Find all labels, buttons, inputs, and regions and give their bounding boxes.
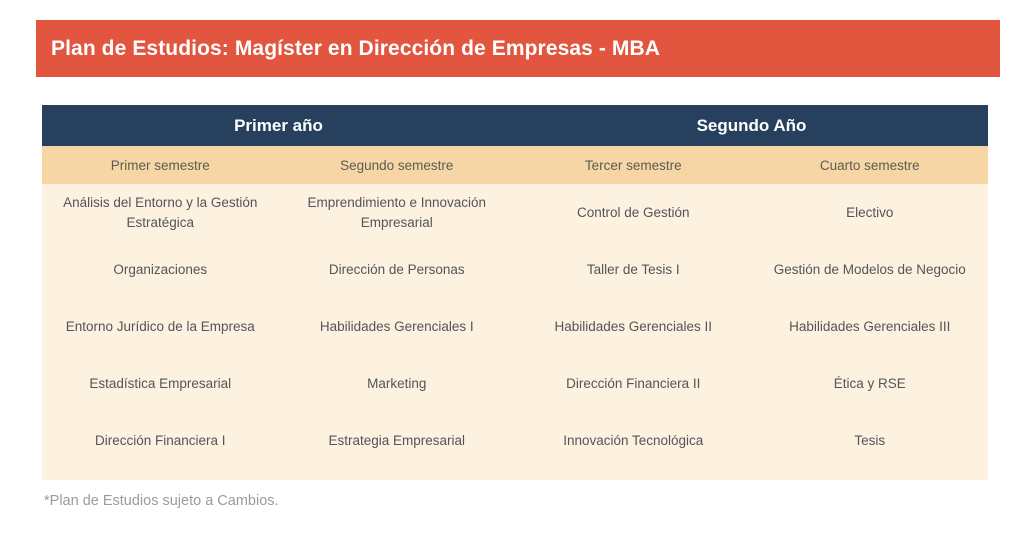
course-cell: Taller de Tesis I: [515, 241, 752, 298]
table-row: Estadística Empresarial Marketing Direcc…: [42, 355, 988, 412]
course-cell: Habilidades Gerenciales I: [279, 298, 516, 355]
curriculum-table: Primer año Segundo Año Primer semestre S…: [42, 105, 988, 480]
semester-header-primer: Primer semestre: [42, 146, 279, 184]
title-banner: Plan de Estudios: Magíster en Dirección …: [36, 20, 1000, 77]
table-row: Organizaciones Dirección de Personas Tal…: [42, 241, 988, 298]
course-cell: Ética y RSE: [752, 355, 989, 412]
table-row: Dirección Financiera I Estrategia Empres…: [42, 412, 988, 469]
course-cell: Entorno Jurídico de la Empresa: [42, 298, 279, 355]
table-row: Análisis del Entorno y la Gestión Estrat…: [42, 184, 988, 241]
course-cell: Tesis: [752, 412, 989, 469]
year-header-row: Primer año Segundo Año: [42, 105, 988, 146]
course-cell: Organizaciones: [42, 241, 279, 298]
course-cell: Marketing: [279, 355, 516, 412]
course-cell: Innovación Tecnológica: [515, 412, 752, 469]
year-header-primer-ano: Primer año: [42, 105, 515, 146]
semester-header-cuarto: Cuarto semestre: [752, 146, 989, 184]
course-cell: Análisis del Entorno y la Gestión Estrat…: [42, 184, 279, 241]
course-cell: Control de Gestión: [515, 184, 752, 241]
course-cell: Electivo: [752, 184, 989, 241]
course-cell: Dirección de Personas: [279, 241, 516, 298]
semester-header-row: Primer semestre Segundo semestre Tercer …: [42, 146, 988, 184]
course-cell: Emprendimiento e Innovación Empresarial: [279, 184, 516, 241]
course-cell: Habilidades Gerenciales II: [515, 298, 752, 355]
course-cell: Estadística Empresarial: [42, 355, 279, 412]
table-row: Entorno Jurídico de la Empresa Habilidad…: [42, 298, 988, 355]
footnote-text: *Plan de Estudios sujeto a Cambios.: [44, 493, 279, 509]
curriculum-page: Plan de Estudios: Magíster en Dirección …: [0, 0, 1024, 537]
page-title: Plan de Estudios: Magíster en Dirección …: [36, 37, 660, 61]
year-header-segundo-ano: Segundo Año: [515, 105, 988, 146]
semester-header-segundo: Segundo semestre: [279, 146, 516, 184]
table-bottom-padding: [42, 469, 988, 480]
semester-header-tercer: Tercer semestre: [515, 146, 752, 184]
course-cell: Gestión de Modelos de Negocio: [752, 241, 989, 298]
course-cell: Estrategia Empresarial: [279, 412, 516, 469]
course-cell: Habilidades Gerenciales III: [752, 298, 989, 355]
course-cell: Dirección Financiera I: [42, 412, 279, 469]
course-cell: Dirección Financiera II: [515, 355, 752, 412]
